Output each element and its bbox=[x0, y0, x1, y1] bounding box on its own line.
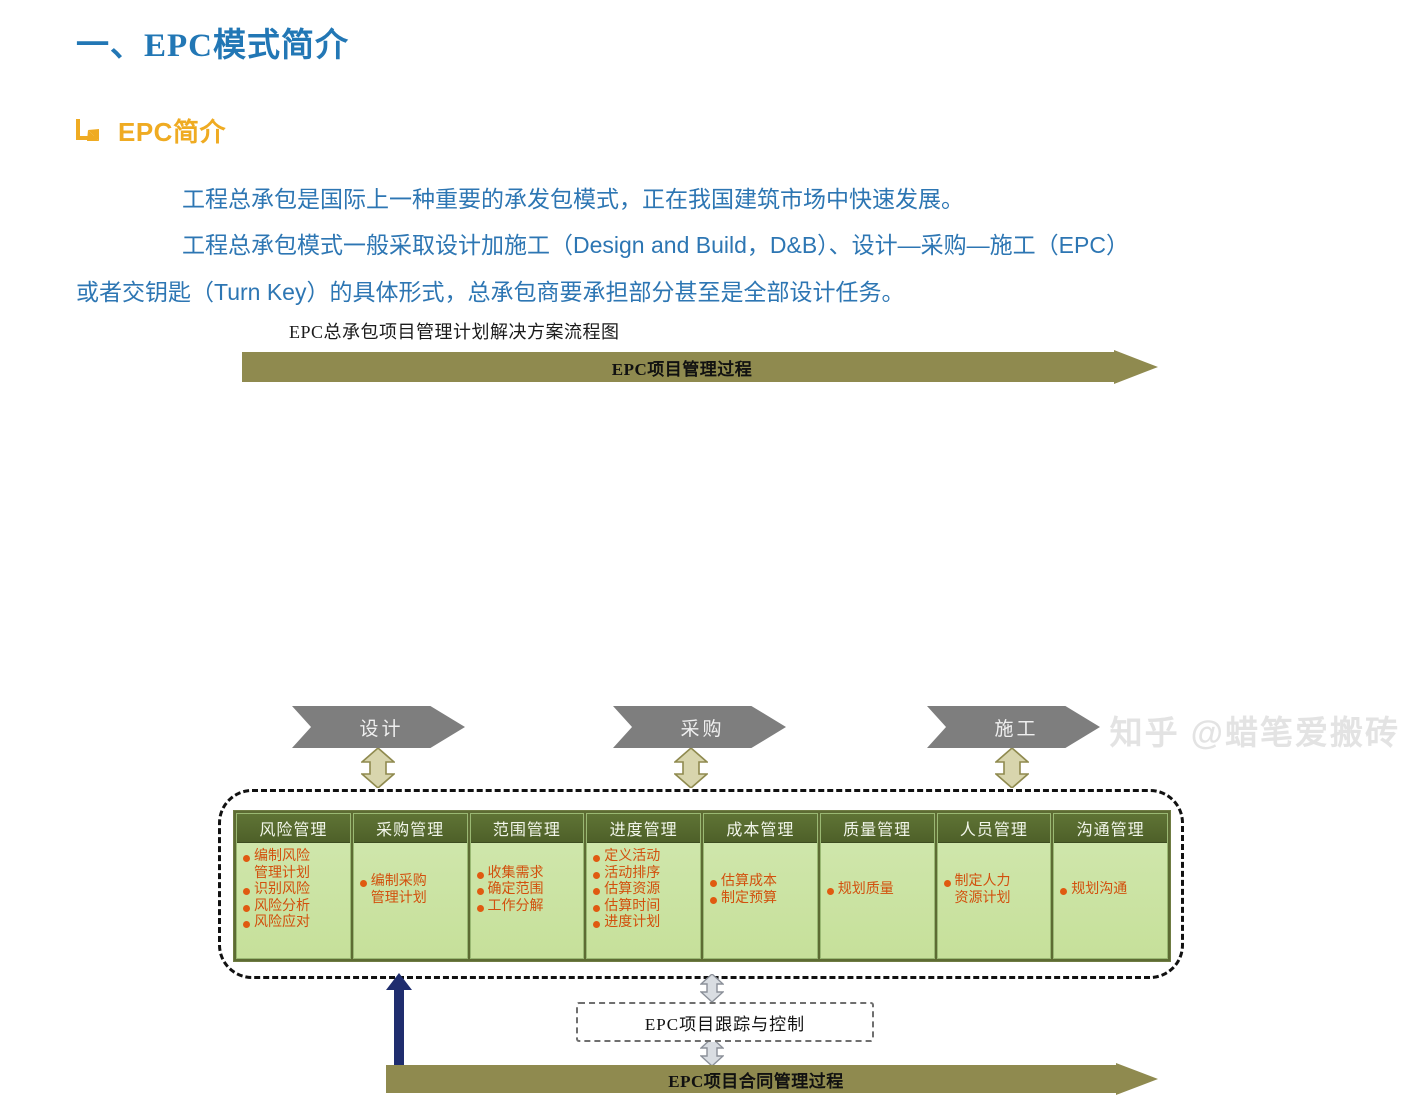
tracking-control-box: EPC项目跟踪与控制 bbox=[576, 1002, 874, 1042]
updown-arrow-icon-1 bbox=[361, 748, 395, 788]
knowledge-area-item: 规划质量 bbox=[826, 882, 929, 899]
knowledge-area-items: 估算成本制定预算 bbox=[704, 843, 817, 958]
knowledge-area-item: 资源计划 bbox=[943, 891, 1046, 908]
contract-feedback-arrow-icon bbox=[386, 973, 412, 1073]
updown-arrow-icon-track-bottom bbox=[700, 1038, 724, 1066]
knowledge-area-title-label: 沟通管理 bbox=[1077, 816, 1145, 840]
knowledge-area-grid: 风险管理编制风险管理计划识别风险风险分析风险应对采购管理编制采购管理计划范围管理… bbox=[233, 810, 1171, 962]
knowledge-area-title-label: 成本管理 bbox=[726, 816, 794, 840]
updown-arrow-icon-track-top bbox=[700, 974, 724, 1002]
knowledge-area-item: 制定预算 bbox=[709, 891, 812, 908]
knowledge-area-card: 风险管理编制风险管理计划识别风险风险分析风险应对 bbox=[236, 813, 351, 959]
bottom-process-arrow: EPC项目合同管理过程 bbox=[386, 1063, 1158, 1095]
phase-label-procurement: 采购 bbox=[674, 714, 724, 741]
section-heading: EPC简介 bbox=[74, 112, 226, 149]
knowledge-area-item: 定义活动 bbox=[592, 849, 695, 866]
knowledge-area-items: 编制风险管理计划识别风险风险分析风险应对 bbox=[237, 843, 350, 958]
tracking-control-label: EPC项目跟踪与控制 bbox=[645, 1010, 805, 1035]
knowledge-area-card: 沟通管理规划沟通 bbox=[1053, 813, 1168, 959]
phase-chevron-construction: 施工 bbox=[927, 706, 1100, 748]
knowledge-area-title: 进度管理 bbox=[587, 814, 700, 843]
knowledge-area-title: 成本管理 bbox=[704, 814, 817, 843]
knowledge-area-title: 沟通管理 bbox=[1054, 814, 1167, 843]
knowledge-area-item: 估算资源 bbox=[592, 882, 695, 899]
phase-label-design: 设计 bbox=[353, 714, 403, 741]
knowledge-area-items: 制定人力资源计划 bbox=[938, 843, 1051, 958]
knowledge-area-title: 范围管理 bbox=[471, 814, 584, 843]
knowledge-area-card: 采购管理编制采购管理计划 bbox=[353, 813, 468, 959]
knowledge-area-title: 质量管理 bbox=[821, 814, 934, 843]
knowledge-area-item: 风险应对 bbox=[242, 915, 345, 932]
knowledge-area-item: 风险分析 bbox=[242, 899, 345, 916]
knowledge-area-title: 风险管理 bbox=[237, 814, 350, 843]
updown-arrow-icon-3 bbox=[995, 748, 1029, 788]
knowledge-area-item: 活动排序 bbox=[592, 866, 695, 883]
knowledge-area-card: 人员管理制定人力资源计划 bbox=[937, 813, 1052, 959]
knowledge-area-items: 定义活动活动排序估算资源估算时间进度计划 bbox=[587, 843, 700, 958]
phase-label-construction: 施工 bbox=[988, 714, 1038, 741]
knowledge-area-title-label: 采购管理 bbox=[376, 816, 444, 840]
diagram-title: EPC总承包项目管理计划解决方案流程图 bbox=[289, 318, 620, 344]
knowledge-area-item: 管理计划 bbox=[359, 891, 462, 908]
phase-chevron-design: 设计 bbox=[292, 706, 465, 748]
knowledge-area-title-label: 风险管理 bbox=[259, 816, 327, 840]
knowledge-area-item: 识别风险 bbox=[242, 882, 345, 899]
body-paragraph-1: 工程总承包是国际上一种重要的承发包模式，正在我国建筑市场中快速发展。 bbox=[182, 188, 964, 211]
knowledge-area-card: 进度管理定义活动活动排序估算资源估算时间进度计划 bbox=[586, 813, 701, 959]
knowledge-area-card: 质量管理规划质量 bbox=[820, 813, 935, 959]
knowledge-area-title: 人员管理 bbox=[938, 814, 1051, 843]
knowledge-area-item: 编制采购 bbox=[359, 874, 462, 891]
slide-root: 一、EPC模式简介 EPC简介 工程总承包是国际上一种重要的承发包模式，正在我国… bbox=[0, 0, 1418, 794]
phase-chevron-procurement: 采购 bbox=[613, 706, 786, 748]
body-paragraph-3: 或者交钥匙（Turn Key）的具体形式，总承包商要承担部分甚至是全部设计任务。 bbox=[76, 281, 904, 304]
knowledge-area-title-label: 范围管理 bbox=[493, 816, 561, 840]
top-process-label: EPC项目管理过程 bbox=[242, 350, 1122, 384]
knowledge-area-title-label: 质量管理 bbox=[843, 816, 911, 840]
knowledge-area-items: 编制采购管理计划 bbox=[354, 843, 467, 958]
knowledge-area-title-label: 人员管理 bbox=[960, 816, 1028, 840]
knowledge-area-card: 成本管理估算成本制定预算 bbox=[703, 813, 818, 959]
updown-arrow-icon-2 bbox=[674, 748, 708, 788]
knowledge-area-items: 收集需求确定范围工作分解 bbox=[471, 843, 584, 958]
knowledge-area-item: 管理计划 bbox=[242, 866, 345, 883]
arrow-down-right-icon bbox=[74, 116, 104, 146]
knowledge-area-item: 工作分解 bbox=[476, 899, 579, 916]
knowledge-area-items: 规划沟通 bbox=[1054, 843, 1167, 958]
knowledge-area-title: 采购管理 bbox=[354, 814, 467, 843]
knowledge-area-item: 确定范围 bbox=[476, 882, 579, 899]
section-heading-label: EPC简介 bbox=[118, 112, 226, 149]
knowledge-area-items: 规划质量 bbox=[821, 843, 934, 958]
knowledge-area-card: 范围管理收集需求确定范围工作分解 bbox=[470, 813, 585, 959]
body-paragraph-2: 工程总承包模式一般采取设计加施工（Design and Build，D&B）、设… bbox=[182, 234, 1129, 257]
knowledge-area-item: 制定人力 bbox=[943, 874, 1046, 891]
knowledge-area-item: 估算成本 bbox=[709, 874, 812, 891]
knowledge-area-title-label: 进度管理 bbox=[610, 816, 678, 840]
knowledge-area-item: 收集需求 bbox=[476, 866, 579, 883]
top-process-arrow: EPC项目管理过程 bbox=[242, 350, 1158, 384]
knowledge-area-item: 进度计划 bbox=[592, 915, 695, 932]
knowledge-area-item: 估算时间 bbox=[592, 899, 695, 916]
knowledge-area-item: 规划沟通 bbox=[1059, 882, 1162, 899]
bottom-process-label: EPC项目合同管理过程 bbox=[386, 1063, 1126, 1095]
page-title: 一、EPC模式简介 bbox=[76, 18, 349, 66]
knowledge-area-item: 编制风险 bbox=[242, 849, 345, 866]
watermark: 知乎 @蜡笔爱搬砖 bbox=[1110, 706, 1400, 754]
